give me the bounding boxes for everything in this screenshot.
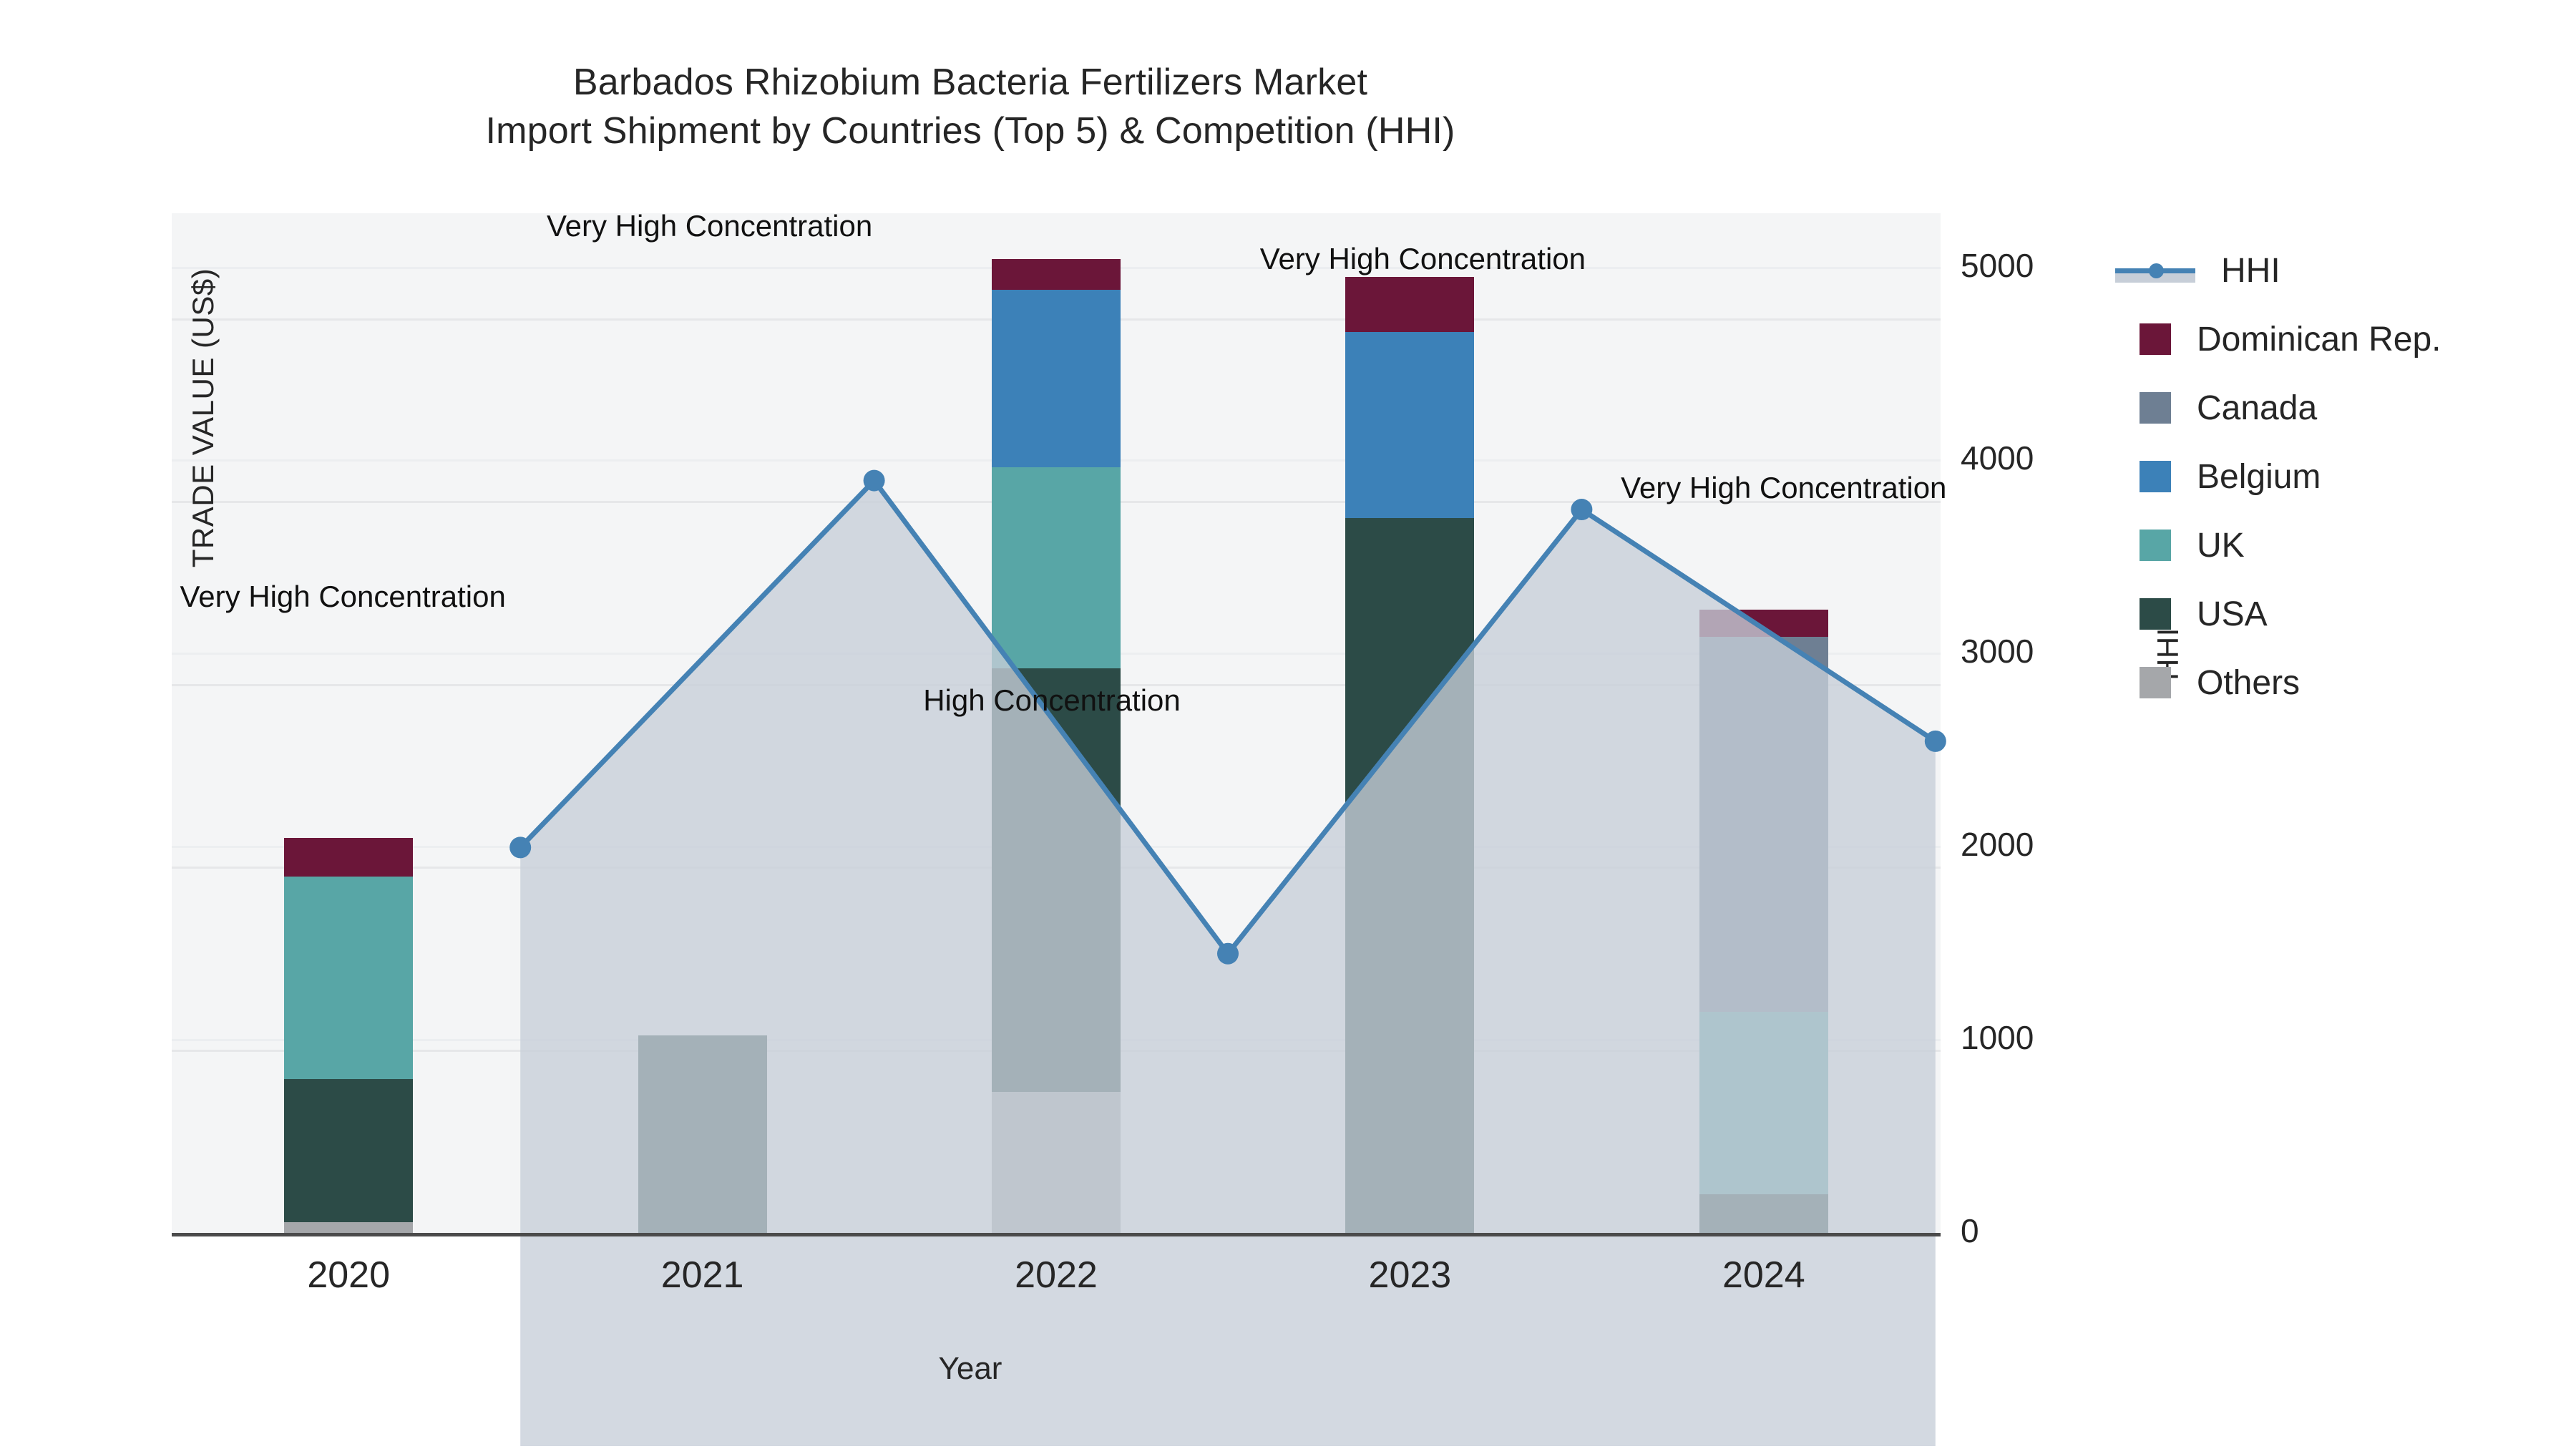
legend-item-label: UK <box>2197 526 2245 565</box>
legend-color-swatch-icon <box>2140 323 2171 355</box>
plot-area <box>172 213 1941 1233</box>
legend-item-label: Dominican Rep. <box>2197 320 2441 359</box>
legend-item[interactable]: Canada <box>2140 374 2569 442</box>
chart-figure: Barbados Rhizobium Bacteria Fertilizers … <box>0 0 2576 1449</box>
legend-item[interactable]: USA <box>2140 580 2569 648</box>
hhi-data-point[interactable] <box>864 470 885 492</box>
bar-segment[interactable] <box>992 259 1121 290</box>
bar-segment[interactable] <box>1345 277 1474 332</box>
y-axis-label-left: TRADE VALUE (US$) <box>186 203 220 633</box>
legend-color-swatch-icon <box>2140 530 2171 561</box>
legend-color-swatch-icon <box>2140 598 2171 630</box>
legend-item[interactable]: Belgium <box>2140 442 2569 511</box>
legend-item-label: Belgium <box>2197 457 2321 497</box>
legend-item-label: Canada <box>2197 389 2317 428</box>
legend-color-swatch-icon <box>2140 392 2171 424</box>
hhi-annotation: Very High Concentration <box>180 580 506 614</box>
hhi-data-point[interactable] <box>1925 731 1946 752</box>
y-tick-label-right: 2000 <box>1961 825 2175 864</box>
legend-color-swatch-icon <box>2140 461 2171 492</box>
hhi-data-point[interactable] <box>509 836 531 858</box>
legend-item[interactable]: UK <box>2140 511 2569 580</box>
chart-title-line-1: Barbados Rhizobium Bacteria Fertilizers … <box>0 59 1941 107</box>
hhi-data-point[interactable] <box>1217 943 1239 965</box>
legend-item[interactable]: Dominican Rep. <box>2140 305 2569 374</box>
hhi-annotation: Very High Concentration <box>1260 242 1586 276</box>
x-axis-label: Year <box>0 1351 1941 1387</box>
legend-item-label: USA <box>2197 595 2268 634</box>
y-tick-label-right: 0 <box>1961 1211 2175 1250</box>
chart-legend: HHIDominican Rep.CanadaBelgiumUKUSAOther… <box>2140 236 2569 717</box>
hhi-annotation: Very High Concentration <box>547 209 872 243</box>
chart-title-line-2: Import Shipment by Countries (Top 5) & C… <box>0 107 1941 156</box>
hhi-annotation: Very High Concentration <box>1621 471 1946 505</box>
x-axis-line <box>172 1233 1941 1236</box>
legend-item[interactable]: Others <box>2140 648 2569 717</box>
legend-item[interactable]: HHI <box>2140 236 2569 305</box>
y-tick-label-right: 1000 <box>1961 1018 2175 1057</box>
x-tick-label: 2022 <box>927 1254 1185 1297</box>
x-tick-label: 2021 <box>574 1254 831 1297</box>
chart-title: Barbados Rhizobium Bacteria Fertilizers … <box>0 59 1941 155</box>
legend-item-label: HHI <box>2221 251 2280 291</box>
legend-color-swatch-icon <box>2140 667 2171 698</box>
x-tick-label: 2020 <box>220 1254 477 1297</box>
x-tick-label: 2023 <box>1281 1254 1538 1297</box>
x-tick-label: 2024 <box>1635 1254 1893 1297</box>
legend-line-marker-icon <box>2115 255 2195 286</box>
legend-item-label: Others <box>2197 663 2300 703</box>
hhi-annotation: High Concentration <box>923 683 1181 718</box>
hhi-data-point[interactable] <box>1571 499 1592 520</box>
